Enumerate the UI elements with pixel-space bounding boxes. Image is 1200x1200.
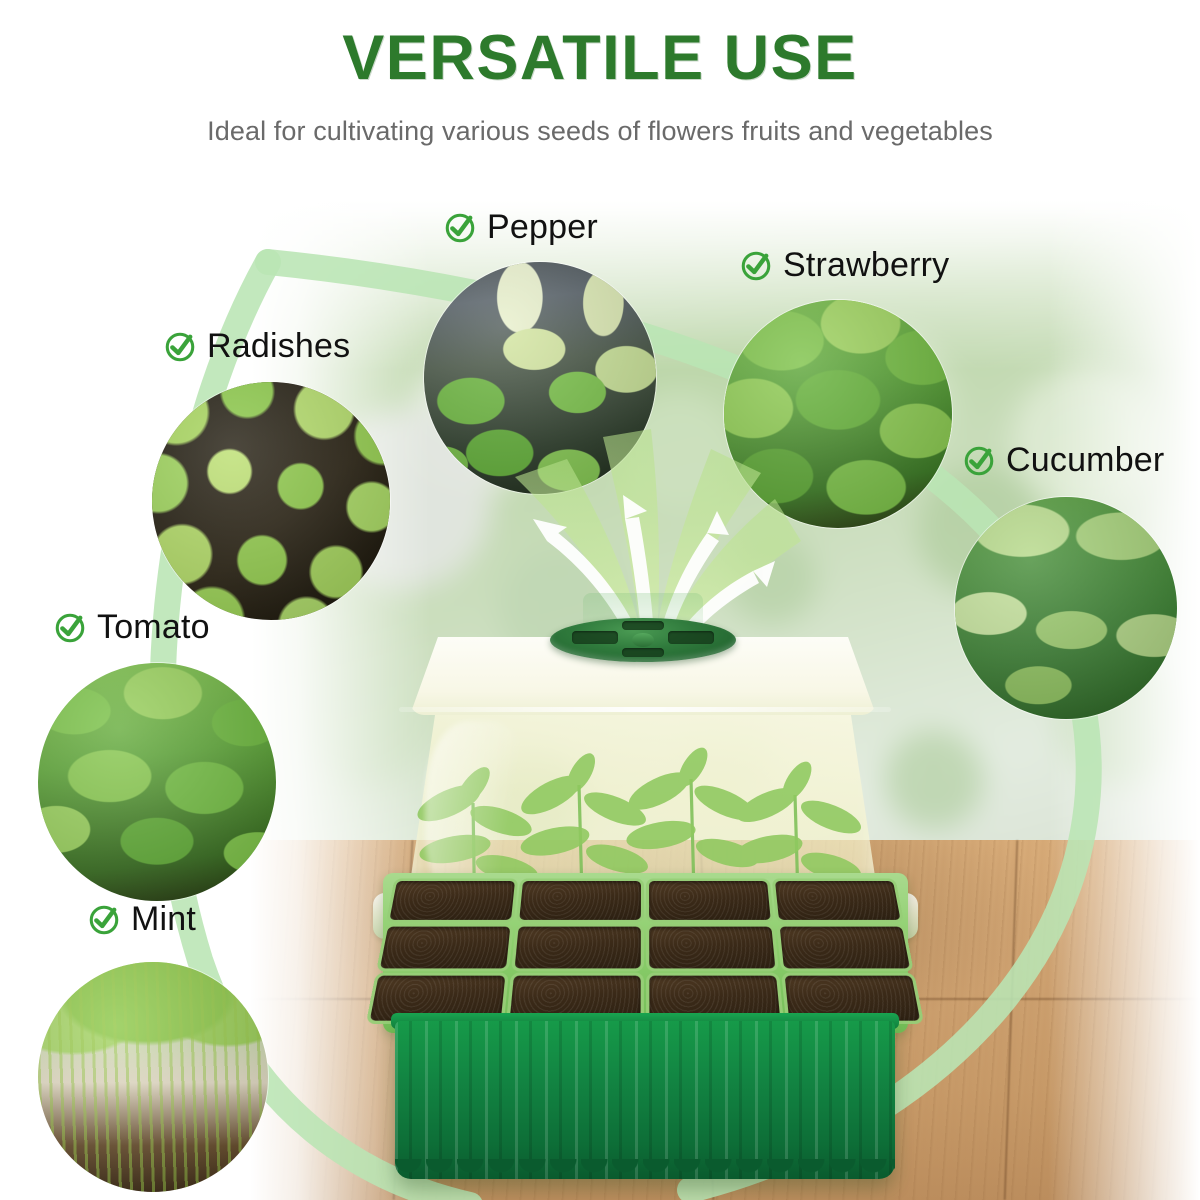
bubble-shade <box>38 962 268 1192</box>
check-circle-icon <box>53 611 87 645</box>
label-text: Tomato <box>97 608 210 647</box>
page-subtitle: Ideal for cultivating various seeds of f… <box>0 90 1200 147</box>
check-circle-icon <box>962 444 996 478</box>
bubble-shade <box>424 262 656 494</box>
header-block: VERSATILE USE Ideal for cultivating vari… <box>0 0 1200 147</box>
vent-slot <box>572 631 618 644</box>
tray-cell <box>515 927 641 969</box>
tray-cell <box>519 881 641 920</box>
plant-bubble-radishes <box>152 382 390 620</box>
plant-bubble-tomato <box>38 663 276 901</box>
label-cucumber: Cucumber <box>962 441 1164 480</box>
tray-cell <box>775 881 901 920</box>
plant-bubble-strawberry <box>724 300 952 528</box>
label-text: Strawberry <box>783 246 949 285</box>
plant-bubble-mint <box>38 962 268 1192</box>
label-tomato: Tomato <box>53 608 210 647</box>
dome-top-edge <box>399 707 891 712</box>
seed-starting-tray <box>355 625 935 1185</box>
plant-bubble-pepper <box>424 262 656 494</box>
label-text: Mint <box>131 900 196 939</box>
check-circle-icon <box>87 903 121 937</box>
vent-slot <box>668 631 714 644</box>
tray-cell <box>649 881 771 920</box>
tray-cell <box>389 881 515 920</box>
base-scalloped-foot <box>395 1159 895 1181</box>
tray-base <box>395 1021 895 1179</box>
check-circle-icon <box>443 211 477 245</box>
plant-bubble-cucumber <box>955 497 1177 719</box>
bubble-shade <box>152 382 390 620</box>
bubble-shade <box>724 300 952 528</box>
label-strawberry: Strawberry <box>739 246 949 285</box>
label-mint: Mint <box>87 900 196 939</box>
label-radishes: Radishes <box>163 327 350 366</box>
check-circle-icon <box>163 330 197 364</box>
bubble-shade <box>955 497 1177 719</box>
label-text: Pepper <box>487 208 598 247</box>
infographic-canvas: VERSATILE USE Ideal for cultivating vari… <box>0 0 1200 1200</box>
label-text: Cucumber <box>1006 441 1164 480</box>
tray-cell <box>649 927 775 969</box>
cell-tray-grid <box>370 881 920 1021</box>
page-title: VERSATILE USE <box>0 0 1200 90</box>
vent-cap[interactable] <box>550 618 736 662</box>
tray-cell <box>380 927 510 969</box>
vent-slot <box>622 621 664 630</box>
bubble-shade <box>38 663 276 901</box>
label-pepper: Pepper <box>443 208 598 247</box>
vent-slot <box>622 648 664 657</box>
check-circle-icon <box>739 249 773 283</box>
label-text: Radishes <box>207 327 350 366</box>
base-ribs <box>395 1021 895 1179</box>
vent-hub <box>632 633 654 647</box>
tray-cell <box>780 927 910 969</box>
